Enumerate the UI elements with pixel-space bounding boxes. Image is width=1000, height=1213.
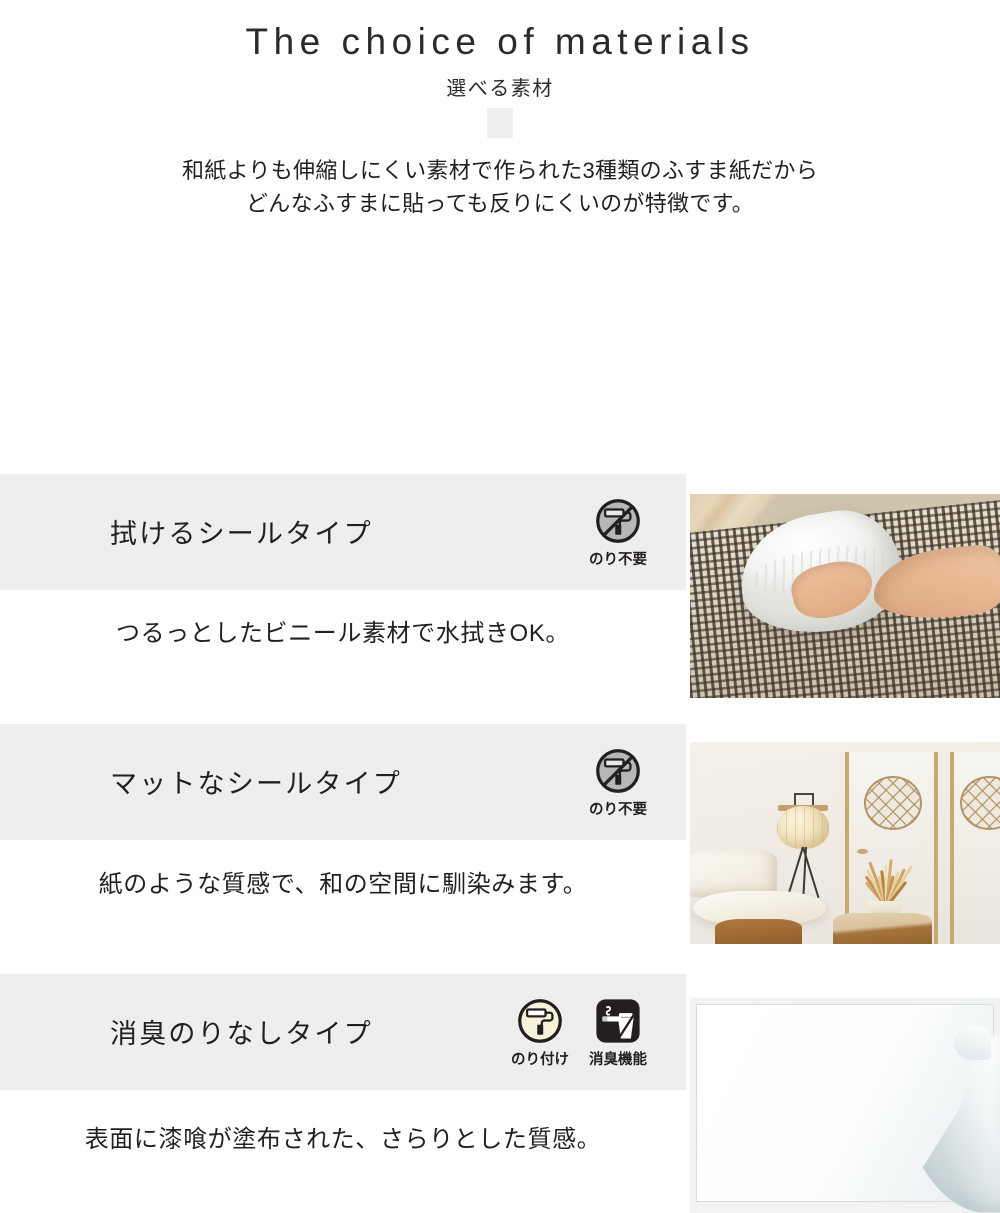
section-1-badges: のり不要 (586, 495, 686, 569)
section-1-label-band: 拭けるシールタイプ のり不要 (0, 474, 686, 590)
section-2-badges: のり不要 (586, 745, 686, 819)
photo-japanese-interior (690, 742, 1000, 944)
section-3-badges: のり付け 消臭機能 (508, 995, 686, 1069)
lead-line-1: 和紙よりも伸縮しにくい素材で作られた3種類のふすま紙だから (182, 158, 818, 183)
divider-accent-box (487, 108, 513, 138)
page-subtitle: 選べる素材 (0, 72, 1000, 101)
deodorize-icon (586, 995, 650, 1047)
paper-fold-tip (954, 1026, 991, 1060)
section-1-caption: つるっとしたビニール素材で水拭きOK。 (0, 613, 686, 648)
badge-no-glue-caption: のり不要 (586, 548, 650, 569)
badge-no-glue-caption: のり不要 (586, 798, 650, 819)
no-glue-roller-icon (586, 745, 650, 797)
badge-deodorize: 消臭機能 (586, 995, 650, 1069)
section-1-title: 拭けるシールタイプ (0, 512, 586, 551)
wood-side-table (833, 913, 932, 943)
lead-paragraph: 和紙よりも伸縮しにくい素材で作られた3種類のふすま紙だから どんなふすまに貼って… (0, 154, 1000, 221)
page-header: The choice of materials 選べる素材 和紙よりも伸縮しにく… (0, 0, 1000, 221)
section-3-label-band: 消臭のりなしタイプ のり付け (0, 974, 686, 1090)
photo-wiping-woven-surface (690, 494, 1000, 698)
wall-knob (857, 849, 868, 854)
page-title: The choice of materials (0, 22, 1000, 63)
badge-no-glue: のり不要 (586, 495, 650, 569)
badge-glue-on-caption: のり付け (508, 1048, 572, 1069)
section-2-label-band: マットなシールタイプ のり不要 (0, 724, 686, 840)
badge-deodorize-caption: 消臭機能 (586, 1048, 650, 1069)
section-3-title: 消臭のりなしタイプ (0, 1012, 508, 1051)
paper-lantern-shade (777, 806, 830, 848)
section-3-caption: 表面に漆喰が塗布された、さらりとした質感。 (0, 1119, 686, 1154)
dried-grass-bouquet (851, 859, 919, 907)
section-2-title: マットなシールタイプ (0, 762, 586, 801)
badge-glue-on: のり付け (508, 995, 572, 1069)
section-2-caption: 紙のような質感で、和の空間に馴染みます。 (0, 864, 686, 899)
badge-no-glue: のり不要 (586, 745, 650, 819)
lead-line-2: どんなふすまに貼っても反りにくいのが特徴です。 (246, 191, 754, 216)
armchair-base (715, 919, 802, 943)
no-glue-roller-icon (586, 495, 650, 547)
glue-roller-icon (508, 995, 572, 1047)
photo-white-paper-curl (690, 998, 1000, 1213)
